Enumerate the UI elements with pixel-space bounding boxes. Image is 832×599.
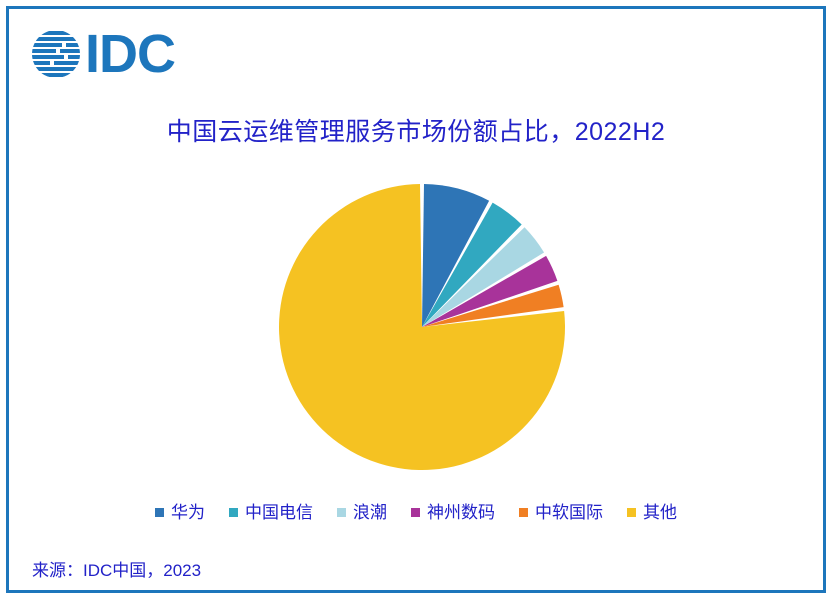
pie-slice-group xyxy=(279,184,565,470)
chart-legend: 华为中国电信浪潮神州数码中软国际其他 xyxy=(0,503,832,522)
legend-label: 中软国际 xyxy=(535,503,603,522)
source-note: 来源：IDC中国，2023 xyxy=(32,556,201,581)
legend-item[interactable]: 其他 xyxy=(627,503,677,522)
idc-logo: IDC xyxy=(30,26,175,82)
legend-item[interactable]: 华为 xyxy=(155,503,205,522)
pie-chart xyxy=(277,182,567,472)
legend-swatch-icon xyxy=(337,508,346,517)
legend-item[interactable]: 中国电信 xyxy=(229,503,313,522)
legend-label: 中国电信 xyxy=(245,503,313,522)
legend-swatch-icon xyxy=(155,508,164,517)
legend-label: 其他 xyxy=(643,503,677,522)
legend-label: 神州数码 xyxy=(427,503,495,522)
legend-item[interactable]: 神州数码 xyxy=(411,503,495,522)
legend-swatch-icon xyxy=(519,508,528,517)
idc-globe-icon xyxy=(30,28,82,80)
legend-swatch-icon xyxy=(229,508,238,517)
legend-item[interactable]: 中软国际 xyxy=(519,503,603,522)
idc-wordmark: IDC xyxy=(85,28,175,80)
pie-chart-svg xyxy=(277,182,567,472)
legend-swatch-icon xyxy=(411,508,420,517)
legend-swatch-icon xyxy=(627,508,636,517)
chart-page: IDC 中国云运维管理服务市场份额占比，2022H2 华为中国电信浪潮神州数码中… xyxy=(0,0,832,599)
legend-label: 浪潮 xyxy=(353,503,387,522)
pie-slice xyxy=(279,184,565,470)
legend-label: 华为 xyxy=(171,503,205,522)
chart-title: 中国云运维管理服务市场份额占比，2022H2 xyxy=(0,112,832,148)
legend-item[interactable]: 浪潮 xyxy=(337,503,387,522)
